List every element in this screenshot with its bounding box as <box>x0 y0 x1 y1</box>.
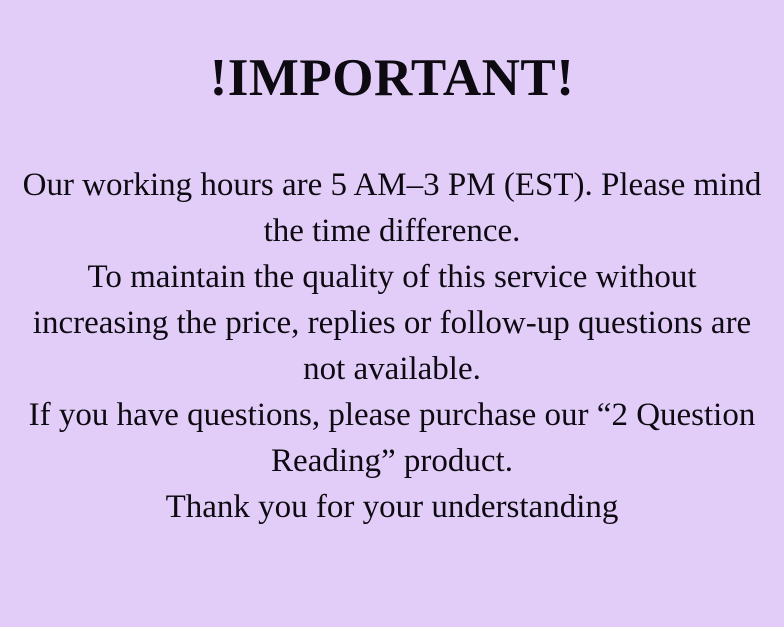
page-title: !IMPORTANT! <box>210 52 575 105</box>
notice-paragraph-thank-you: Thank you for your understanding <box>18 484 766 530</box>
important-notice-card: !IMPORTANT! Our working hours are 5 AM–3… <box>0 0 784 627</box>
notice-paragraph-no-replies: To maintain the quality of this service … <box>18 254 766 392</box>
notice-paragraph-working-hours: Our working hours are 5 AM–3 PM (EST). P… <box>18 162 766 254</box>
notice-body: Our working hours are 5 AM–3 PM (EST). P… <box>0 162 784 530</box>
notice-paragraph-purchase-product: If you have questions, please purchase o… <box>18 392 766 484</box>
